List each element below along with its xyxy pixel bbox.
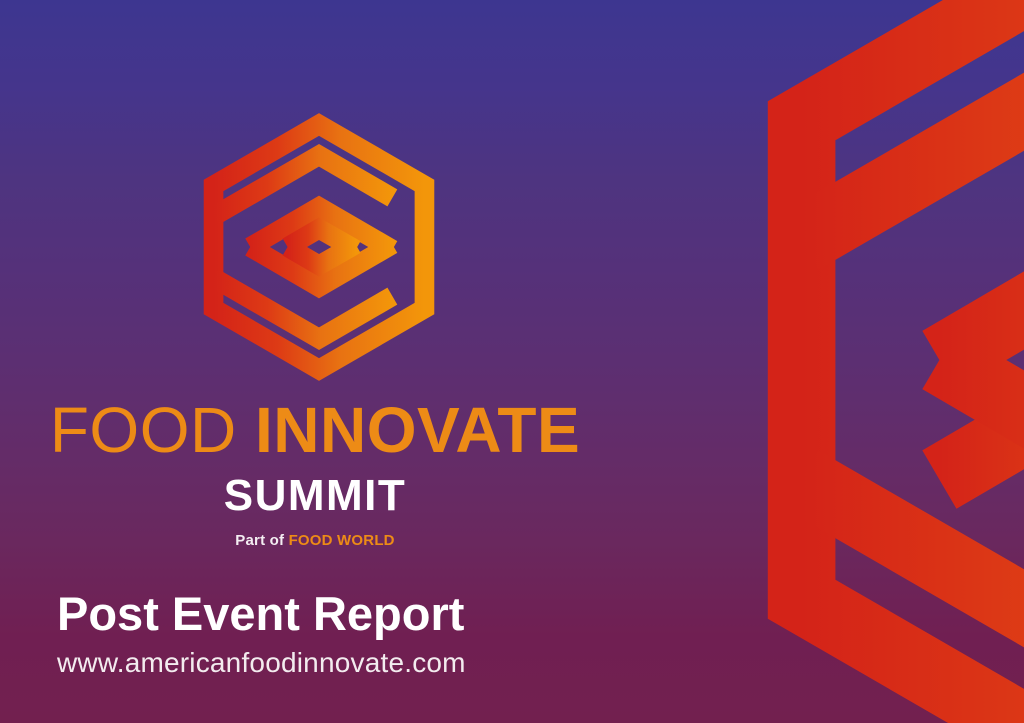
hexagon-maze-watermark: [695, 0, 1024, 723]
brand-name: FOOD INNOVATE: [0, 398, 630, 462]
wordmark-block: FOOD INNOVATE SUMMIT Part of FOOD WORLD: [0, 398, 630, 550]
brand-word-food: FOOD: [50, 394, 237, 466]
parent-brand-line: Part of FOOD WORLD: [0, 532, 630, 550]
parent-brand-name: FOOD WORLD: [289, 532, 395, 549]
website-url: www.americanfoodinnovate.com: [57, 646, 657, 680]
report-title: Post Event Report: [57, 588, 657, 640]
hexagon-maze-logo: [188, 110, 450, 384]
cover-page: FOOD INNOVATE SUMMIT Part of FOOD WORLD …: [0, 0, 1024, 723]
brand-word-innovate: INNOVATE: [255, 394, 580, 466]
parent-brand-prefix: Part of: [235, 532, 284, 549]
cover-footer: Post Event Report www.americanfoodinnova…: [57, 588, 657, 680]
brand-word-summit: SUMMIT: [0, 472, 630, 520]
